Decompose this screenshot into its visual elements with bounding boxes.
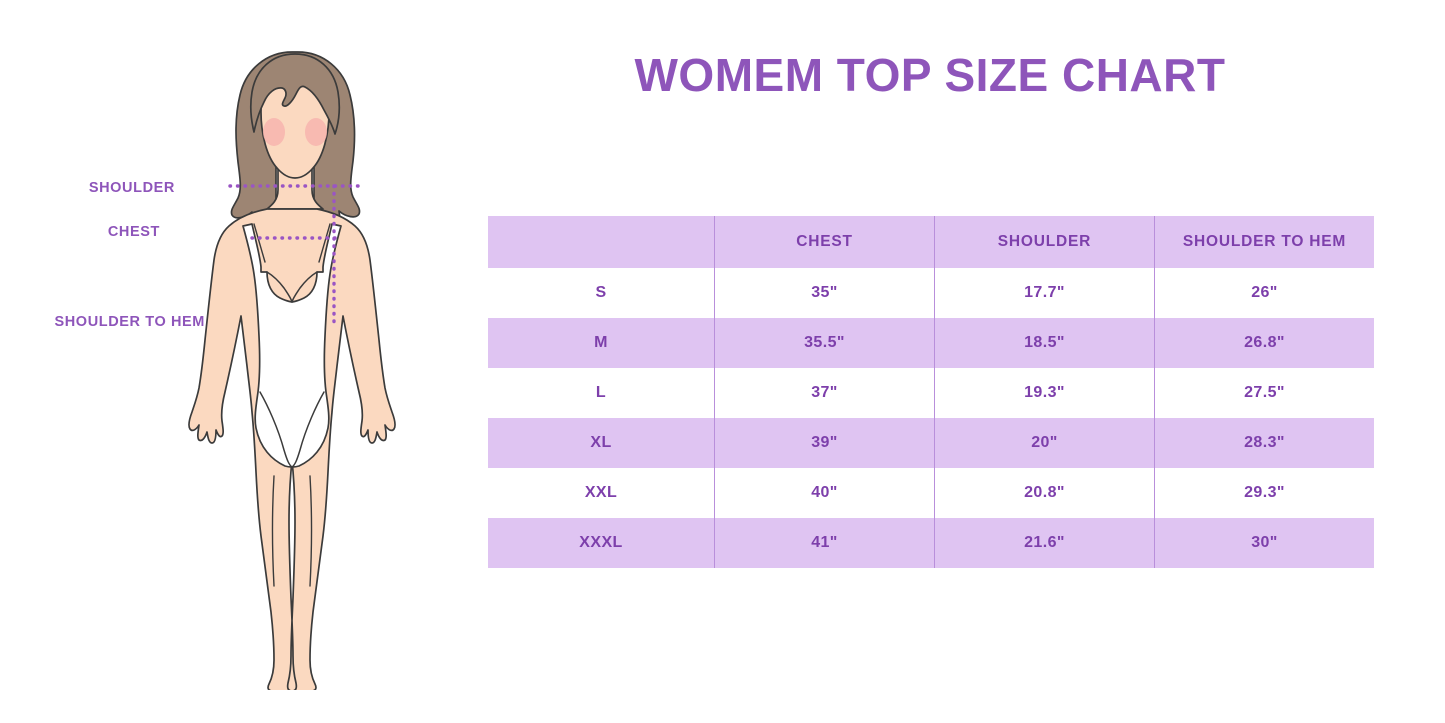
cell-chest: 35.5" — [715, 318, 935, 368]
column-header-shoulder-to-hem: SHOULDER TO HEM — [1155, 216, 1375, 268]
table-row: XXL 40" 20.8" 29.3" — [488, 468, 1374, 518]
cell-shoulder-to-hem: 26.8" — [1155, 318, 1375, 368]
blush-right — [305, 118, 327, 146]
table-row: M 35.5" 18.5" 26.8" — [488, 318, 1374, 368]
cell-size: XL — [488, 418, 715, 468]
blush-left — [263, 118, 285, 146]
cell-shoulder-to-hem: 30" — [1155, 518, 1375, 568]
cell-size: S — [488, 268, 715, 318]
cell-shoulder: 21.6" — [935, 518, 1155, 568]
column-header-chest: CHEST — [715, 216, 935, 268]
cell-size: XXXL — [488, 518, 715, 568]
cell-chest: 39" — [715, 418, 935, 468]
cell-shoulder-to-hem: 26" — [1155, 268, 1375, 318]
column-header-shoulder: SHOULDER — [935, 216, 1155, 268]
cell-chest: 40" — [715, 468, 935, 518]
table-row: L 37" 19.3" 27.5" — [488, 368, 1374, 418]
cell-shoulder: 20.8" — [935, 468, 1155, 518]
cell-size: L — [488, 368, 715, 418]
measurement-label-chest: CHEST — [108, 224, 160, 240]
table-row: S 35" 17.7" 26" — [488, 268, 1374, 318]
table-row: XL 39" 20" 28.3" — [488, 418, 1374, 468]
page-title: WOMEM TOP SIZE CHART — [488, 48, 1372, 102]
cell-shoulder-to-hem: 27.5" — [1155, 368, 1375, 418]
size-chart-table: CHEST SHOULDER SHOULDER TO HEM S 35" 17.… — [488, 216, 1374, 568]
cell-shoulder: 19.3" — [935, 368, 1155, 418]
cell-shoulder: 18.5" — [935, 318, 1155, 368]
cell-chest: 41" — [715, 518, 935, 568]
table-header: CHEST SHOULDER SHOULDER TO HEM — [488, 216, 1374, 268]
cell-size: XXL — [488, 468, 715, 518]
measurement-label-shoulder: SHOULDER — [89, 180, 175, 196]
body-figure-illustration — [168, 40, 418, 690]
body-figure-svg — [168, 40, 418, 690]
column-header-size — [488, 216, 715, 268]
cell-shoulder-to-hem: 28.3" — [1155, 418, 1375, 468]
table-row: XXXL 41" 21.6" 30" — [488, 518, 1374, 568]
cell-shoulder-to-hem: 29.3" — [1155, 468, 1375, 518]
table-body: S 35" 17.7" 26" M 35.5" 18.5" 26.8" L 37… — [488, 268, 1374, 568]
size-chart-page: WOMEM TOP SIZE CHART SHOULDER CHEST SHOU… — [0, 0, 1445, 723]
cell-size: M — [488, 318, 715, 368]
table-header-row: CHEST SHOULDER SHOULDER TO HEM — [488, 216, 1374, 268]
cell-shoulder: 17.7" — [935, 268, 1155, 318]
cell-shoulder: 20" — [935, 418, 1155, 468]
cell-chest: 37" — [715, 368, 935, 418]
cell-chest: 35" — [715, 268, 935, 318]
